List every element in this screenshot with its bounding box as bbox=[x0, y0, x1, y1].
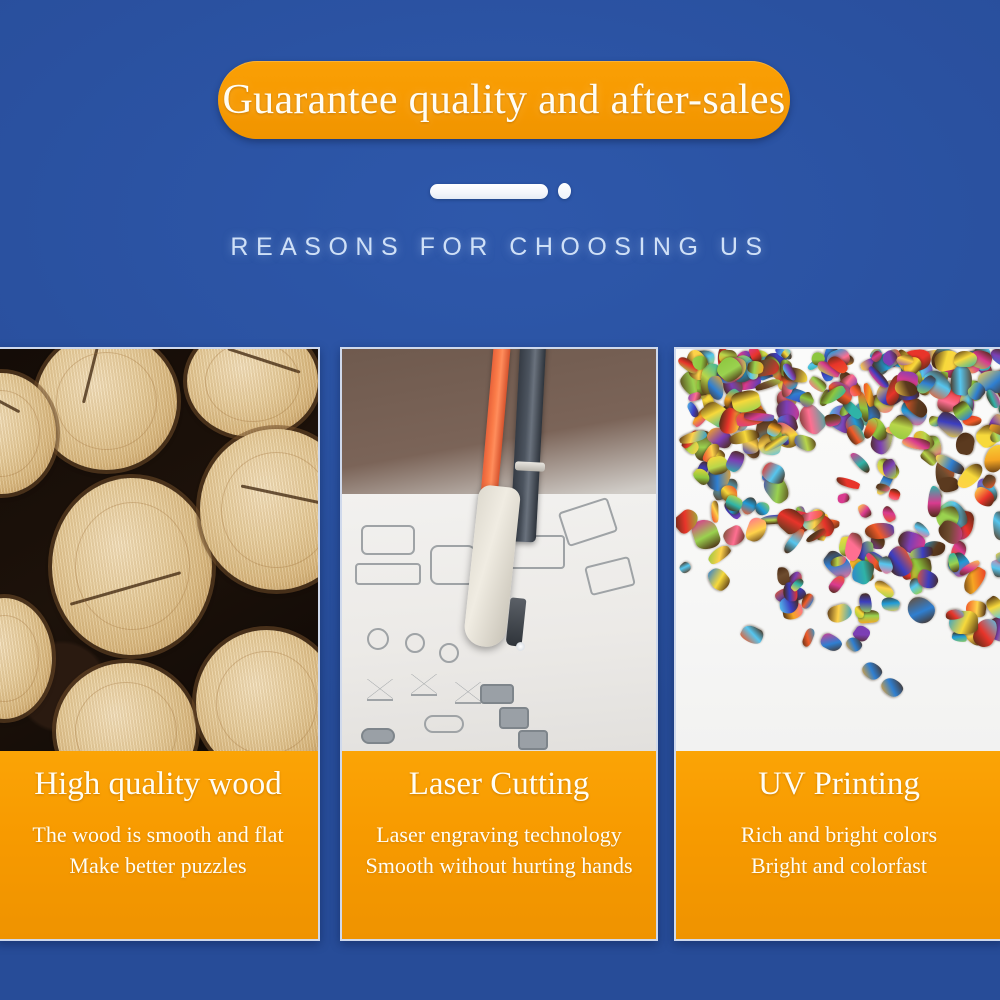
puzzle-piece bbox=[743, 515, 768, 544]
engraved-shape bbox=[367, 628, 389, 650]
feature-card-row: High quality wood The wood is smooth and… bbox=[0, 347, 1000, 941]
engraved-shape bbox=[405, 633, 425, 653]
feature-card-uv-printing[interactable]: UV Printing Rich and bright colors Brigh… bbox=[674, 347, 1000, 941]
card-title: UV Printing bbox=[758, 765, 920, 804]
feature-card-laser-cutting[interactable]: Laser Cutting Laser engraving technology… bbox=[340, 347, 658, 941]
log-slice bbox=[187, 349, 318, 437]
engraved-shape bbox=[584, 555, 636, 595]
log-slice bbox=[200, 429, 318, 590]
slide-progress-bar[interactable] bbox=[430, 184, 548, 199]
engraved-triangle bbox=[455, 682, 481, 704]
log-slice bbox=[56, 663, 197, 751]
puzzle-piece bbox=[819, 631, 844, 654]
promo-page: Guarantee quality and after-sales REASON… bbox=[0, 0, 1000, 1000]
puzzle-piece bbox=[739, 623, 766, 647]
puzzle-piece bbox=[849, 451, 873, 476]
colorful-puzzle-pieces-photo bbox=[676, 349, 1000, 751]
card-line: Make better puzzles bbox=[32, 851, 283, 880]
card-title: High quality wood bbox=[34, 765, 281, 804]
tube-collar bbox=[514, 461, 544, 472]
puzzle-piece bbox=[992, 511, 1000, 541]
feature-card-high-quality-wood[interactable]: High quality wood The wood is smooth and… bbox=[0, 347, 320, 941]
stacked-wood-logs-photo bbox=[0, 349, 318, 751]
section-subtitle: REASONS FOR CHOOSING US bbox=[0, 233, 1000, 262]
puzzle-piece bbox=[704, 564, 733, 593]
log-slice bbox=[0, 598, 52, 719]
puzzle-piece bbox=[996, 549, 1000, 562]
card-photo-puzzle bbox=[676, 349, 1000, 751]
puzzle-piece bbox=[755, 502, 770, 516]
engraved-shape bbox=[424, 715, 464, 733]
puzzle-piece bbox=[744, 412, 774, 422]
puzzle-piece bbox=[677, 560, 692, 575]
engraved-triangle bbox=[411, 674, 437, 696]
puzzle-piece bbox=[865, 522, 895, 541]
puzzle-piece bbox=[856, 503, 873, 521]
card-description: Laser engraving technology Smooth withou… bbox=[365, 818, 632, 880]
log-slice bbox=[196, 630, 318, 751]
puzzle-piece bbox=[859, 659, 884, 682]
puzzle-piece bbox=[872, 577, 897, 600]
card-description: Rich and bright colors Bright and colorf… bbox=[741, 818, 937, 880]
card-line: Smooth without hurting hands bbox=[365, 851, 632, 880]
engraved-shape bbox=[355, 563, 421, 585]
puzzle-piece bbox=[879, 675, 906, 700]
puzzle-piece bbox=[836, 492, 850, 504]
card-description: The wood is smooth and flat Make better … bbox=[32, 818, 283, 880]
puzzle-piece bbox=[711, 500, 719, 522]
card-line: Laser engraving technology bbox=[365, 820, 632, 849]
slider-pagination[interactable] bbox=[0, 180, 1000, 202]
log-slice bbox=[36, 349, 177, 470]
puzzle-piece bbox=[879, 504, 897, 524]
cut-part bbox=[499, 707, 529, 729]
cut-part bbox=[480, 684, 514, 704]
card-line: Rich and bright colors bbox=[741, 820, 937, 849]
puzzle-piece bbox=[686, 401, 700, 419]
cut-part bbox=[518, 730, 548, 750]
cut-part bbox=[361, 728, 395, 744]
card-caption-1: High quality wood The wood is smooth and… bbox=[0, 751, 318, 939]
puzzle-piece bbox=[954, 351, 977, 367]
puzzle-piece bbox=[827, 602, 854, 625]
card-photo-wood bbox=[0, 349, 318, 751]
engraved-triangle bbox=[367, 679, 393, 701]
card-caption-3: UV Printing Rich and bright colors Brigh… bbox=[676, 751, 1000, 939]
puzzle-piece bbox=[938, 476, 959, 493]
title-banner: Guarantee quality and after-sales bbox=[218, 61, 790, 139]
laser-cutting-machine-photo bbox=[342, 349, 656, 751]
puzzle-piece bbox=[880, 595, 901, 613]
puzzle-piece bbox=[902, 591, 939, 628]
card-photo-laser bbox=[342, 349, 656, 751]
banner-title: Guarantee quality and after-sales bbox=[223, 79, 786, 121]
puzzle-piece bbox=[835, 475, 861, 490]
engraved-shape bbox=[439, 643, 459, 663]
engraved-shape bbox=[558, 497, 619, 547]
card-line: The wood is smooth and flat bbox=[32, 820, 283, 849]
log-slice bbox=[52, 478, 212, 655]
slide-dot[interactable] bbox=[558, 183, 571, 199]
engraved-shape bbox=[361, 525, 415, 555]
card-caption-2: Laser Cutting Laser engraving technology… bbox=[342, 751, 656, 939]
puzzle-piece bbox=[888, 488, 902, 502]
puzzle-piece bbox=[801, 627, 816, 648]
card-line: Bright and colorfast bbox=[741, 851, 937, 880]
card-title: Laser Cutting bbox=[409, 765, 590, 804]
puzzle-piece bbox=[792, 433, 817, 453]
puzzle-piece bbox=[883, 458, 897, 478]
